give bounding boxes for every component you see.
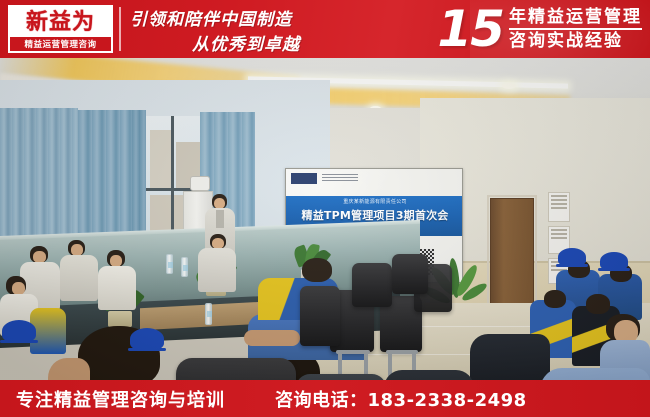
slogan-line-2: 从优秀到卓越 [192, 30, 300, 55]
experience-badge: 15 年精益运营管理 咨询实战经验 [437, 0, 642, 58]
office-chair-foreground [176, 358, 296, 380]
years-text-block: 年精益运营管理 咨询实战经验 [509, 7, 642, 51]
promotional-image: 新益为 精益运营管理咨询 引领和陪伴中国制造 从优秀到卓越 15 年精益运营管理… [0, 0, 650, 417]
logo-main-text: 新益为 [10, 7, 111, 37]
logo-sub-text: 精益运营管理咨询 [10, 37, 111, 51]
attendee-foreground [540, 354, 650, 380]
hard-hat-icon [2, 320, 36, 342]
slogan-line-1: 引领和陪伴中国制造 [130, 5, 292, 30]
hard-hat-icon [600, 252, 628, 270]
exterior-building [150, 130, 172, 188]
attendee [196, 234, 238, 290]
footer-banner: 专注精益管理咨询与培训 咨询电话：183-2338-2498 [0, 380, 650, 417]
water-bottle [181, 257, 188, 277]
attendee-seated-dark [470, 312, 550, 380]
door[interactable] [490, 198, 534, 316]
slide-logo-caption [322, 174, 358, 182]
company-logo: 新益为 精益运营管理咨询 [8, 5, 113, 53]
years-line-1: 年精益运营管理 [509, 7, 642, 27]
banner-divider [119, 7, 121, 51]
wall-clock-icon [190, 176, 210, 191]
attendee [60, 240, 98, 300]
slide-logo-icon [291, 173, 317, 184]
office-chair [392, 254, 428, 294]
office-chair [352, 263, 392, 307]
attendee-foreground [384, 358, 474, 380]
footer-phone-text: 咨询电话：183-2338-2498 [275, 386, 527, 412]
attendee [98, 250, 136, 308]
water-bottle [205, 303, 212, 325]
slide-company-line: 重庆某新能源有限责任公司 [286, 198, 463, 205]
water-bottle [166, 254, 173, 274]
office-chair [300, 286, 340, 346]
hard-hat-icon [130, 328, 164, 350]
footer-left-text: 专注精益管理咨询与培训 [16, 386, 225, 412]
meeting-room-photo: 重庆某新能源有限责任公司 精益TPM管理项目3期首次会 20230417-第一 [0, 58, 650, 380]
years-number: 15 [437, 4, 509, 54]
years-rule [509, 28, 642, 30]
top-banner: 新益为 精益运营管理咨询 引领和陪伴中国制造 从优秀到卓越 15 年精益运营管理… [0, 0, 650, 58]
hard-hat-icon [558, 248, 586, 266]
wall-poster [548, 192, 570, 222]
years-line-2: 咨询实战经验 [509, 31, 642, 51]
banner-slogan: 引领和陪伴中国制造 从优秀到卓越 [130, 4, 380, 54]
downlight-icon [502, 83, 516, 89]
